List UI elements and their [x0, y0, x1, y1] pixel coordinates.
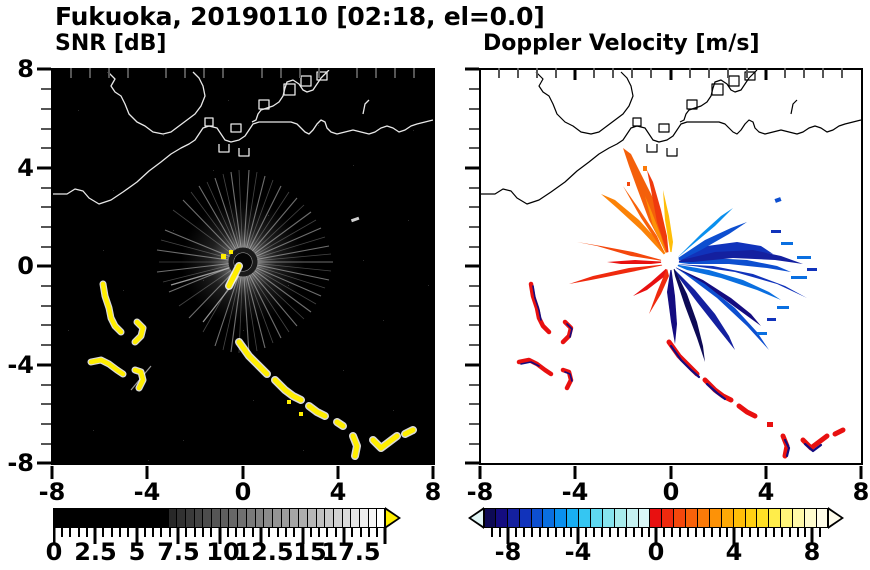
snr-colorbar-cell	[153, 508, 161, 528]
doppler-colorbar-cell	[817, 508, 828, 528]
doppler-colorbar-under-fill	[471, 510, 483, 526]
snr-colorbar-cell	[84, 508, 92, 528]
doppler-colorbar-cell	[722, 508, 734, 528]
snr-cb-label-17p5: 17.5	[320, 538, 382, 566]
ytick-label-neg4: -4	[0, 351, 34, 379]
snr-plot-area[interactable]	[51, 68, 435, 465]
doppler-colorbar-cell	[686, 508, 698, 528]
snr-colorbar-cell	[61, 508, 69, 528]
doppler-colorbar-cell	[627, 508, 639, 528]
snr-colorbar-gradient	[53, 508, 385, 528]
snr-xtick-neg8: -8	[22, 478, 82, 506]
snr-colorbar-cell	[161, 508, 169, 528]
snr-xtick-0: 0	[213, 478, 273, 506]
snr-colorbar-cell	[122, 508, 130, 528]
ytick-label-0: 0	[0, 252, 34, 280]
snr-colorbar-cell	[107, 508, 115, 528]
radar-center-gap	[661, 252, 679, 270]
doppler-colorbar-cell	[734, 508, 746, 528]
doppler-colorbar-cell	[555, 508, 567, 528]
dop-cb-label-neg4: -4	[548, 538, 608, 566]
snr-colorbar-cell	[76, 508, 84, 528]
doppler-colorbar-cell	[496, 508, 508, 528]
dop-cb-label-8: 8	[782, 538, 842, 566]
snr-colorbar-cell	[68, 508, 76, 528]
doppler-colorbar-cell	[579, 508, 591, 528]
doppler-colorbar-cell	[591, 508, 603, 528]
ytick-label-neg8: -8	[0, 449, 34, 477]
dop-xtick-4: 4	[736, 478, 796, 506]
snr-colorbar-cell	[273, 508, 282, 528]
snr-colorbar-cell	[130, 508, 138, 528]
snr-colorbar-cell	[53, 508, 61, 528]
snr-xtick-neg4: -4	[117, 478, 177, 506]
doppler-colorbar-cell	[615, 508, 627, 528]
snr-colorbar-cell	[264, 508, 273, 528]
dop-xtick-8: 8	[831, 478, 870, 506]
doppler-colorbar-cell	[662, 508, 674, 528]
doppler-colorbar-cell	[805, 508, 817, 528]
doppler-panel-title: Doppler Velocity [m/s]	[483, 31, 760, 56]
doppler-colorbar-cell	[508, 508, 520, 528]
snr-colorbar-over-fill	[386, 510, 398, 526]
doppler-colorbar-cell	[698, 508, 710, 528]
snr-colorbar[interactable]	[53, 508, 401, 530]
snr-colorbar-cell	[317, 508, 326, 528]
doppler-colorbar-cell	[769, 508, 781, 528]
snr-colorbar-cell	[343, 508, 352, 528]
doppler-colorbar-cell	[710, 508, 722, 528]
snr-colorbar-cell	[369, 508, 378, 528]
snr-colorbar-cell	[247, 508, 256, 528]
doppler-colorbar-cell	[603, 508, 615, 528]
snr-xtick-4: 4	[308, 478, 368, 506]
dop-cb-label-4: 4	[704, 538, 764, 566]
page-title: Fukuoka, 20190110 [02:18, el=0.0]	[55, 2, 545, 31]
doppler-colorbar-cell	[484, 508, 496, 528]
dop-cb-label-neg8: -8	[478, 538, 538, 566]
doppler-colorbar-cell	[650, 508, 662, 528]
snr-cb-label-2p5: 2.5	[68, 538, 123, 566]
doppler-colorbar-gradient	[484, 508, 828, 528]
doppler-colorbar-cell	[639, 508, 651, 528]
snr-colorbar-cell	[282, 508, 291, 528]
dop-xtick-neg8: -8	[450, 478, 510, 506]
snr-colorbar-cell	[229, 508, 238, 528]
snr-colorbar-cell	[92, 508, 100, 528]
snr-colorbar-cell	[325, 508, 334, 528]
dop-xtick-neg4: -4	[545, 478, 605, 506]
snr-colorbar-cell	[299, 508, 308, 528]
doppler-colorbar-cell	[746, 508, 758, 528]
ytick-label-4: 4	[0, 154, 34, 182]
doppler-colorbar-cell	[781, 508, 793, 528]
snr-colorbar-cell	[360, 508, 369, 528]
snr-colorbar-cell	[195, 508, 204, 528]
snr-cb-label-7p5: 7.5	[151, 538, 206, 566]
snr-colorbar-cell	[256, 508, 265, 528]
snr-colorbar-cell	[290, 508, 299, 528]
snr-colorbar-cell	[177, 508, 186, 528]
snr-colorbar-cell	[186, 508, 195, 528]
snr-colorbar-cell	[221, 508, 230, 528]
snr-panel-title: SNR [dB]	[55, 31, 166, 56]
snr-colorbar-cell	[99, 508, 107, 528]
doppler-colorbar-cell	[532, 508, 544, 528]
snr-colorbar-cell	[308, 508, 317, 528]
snr-radar-image	[53, 70, 433, 463]
doppler-colorbar-cell	[520, 508, 532, 528]
snr-colorbar-cell	[203, 508, 212, 528]
snr-colorbar-cell	[169, 508, 178, 528]
doppler-colorbar-cell	[567, 508, 579, 528]
snr-colorbar-cell	[138, 508, 146, 528]
doppler-colorbar-cell	[543, 508, 555, 528]
snr-colorbar-cell	[238, 508, 247, 528]
dop-xtick-0: 0	[641, 478, 701, 506]
doppler-colorbar-cell	[757, 508, 769, 528]
dop-cb-label-0: 0	[626, 538, 686, 566]
ytick-label-8: 8	[0, 55, 34, 83]
doppler-colorbar[interactable]	[468, 508, 843, 530]
snr-colorbar-cell	[377, 508, 385, 528]
snr-colorbar-cell	[351, 508, 360, 528]
snr-colorbar-cell	[334, 508, 343, 528]
doppler-plot-area[interactable]	[479, 68, 863, 465]
snr-colorbar-cell	[212, 508, 221, 528]
doppler-colorbar-cell	[793, 508, 805, 528]
doppler-colorbar-cell	[674, 508, 686, 528]
snr-colorbar-cell	[115, 508, 123, 528]
snr-colorbar-cell	[145, 508, 153, 528]
radar-figure: Fukuoka, 20190110 [02:18, el=0.0] SNR [d…	[0, 0, 870, 570]
doppler-colorbar-over-fill	[829, 510, 841, 526]
doppler-radar-image	[481, 70, 861, 463]
